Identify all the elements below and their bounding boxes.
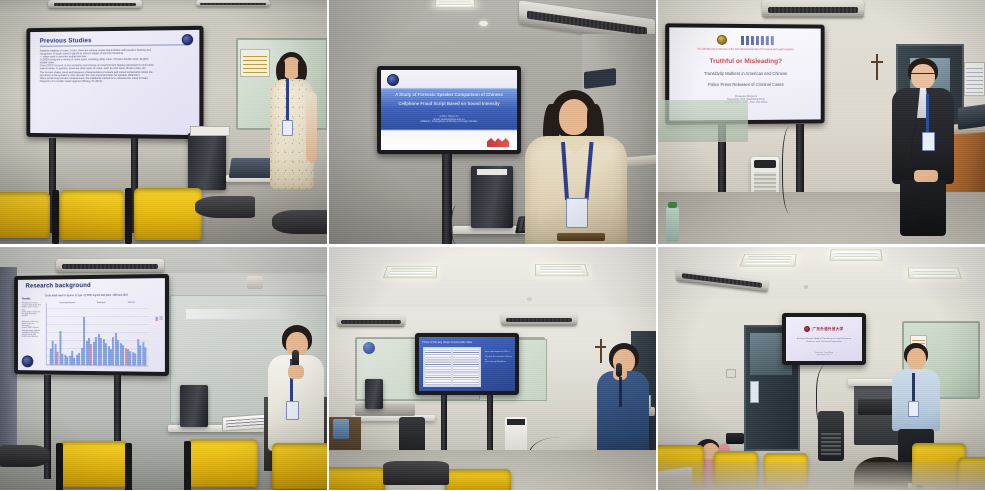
table-cell	[424, 348, 452, 361]
table-cell	[452, 348, 480, 361]
ceiling	[329, 247, 656, 307]
slide-side-note: First, split corpus by CRF++ Second, the…	[485, 351, 512, 363]
badge	[282, 120, 293, 136]
desk-arm-rest	[195, 196, 255, 218]
floor	[658, 462, 985, 490]
slide-side-text: The injury is a main cause of loss of li…	[22, 302, 41, 338]
slide-previous-studies: Previous Studies Auditory masking of noi…	[30, 30, 199, 135]
badge	[908, 401, 919, 417]
slide-title-block: A Study of Forensic Speaker Comparison o…	[387, 92, 511, 106]
glasses-icon	[911, 73, 935, 78]
ceiling-light	[383, 266, 438, 278]
slide-side-label: Trends	[22, 296, 31, 300]
side-note-line: First, split corpus by CRF++	[485, 351, 512, 353]
ac-unit	[48, 0, 142, 9]
hand	[288, 365, 304, 379]
slide-subtitle-line-2: Police Press Releases of Criminal Cases	[674, 83, 815, 88]
lanyard	[286, 79, 289, 121]
slide-sub-line: Affiliation: Guangdong University of For…	[387, 121, 511, 124]
wall-poster-icon	[363, 342, 375, 354]
chair	[134, 188, 202, 240]
recycling-bin-icon	[333, 419, 349, 439]
slide-title-line-2: Evidence from Courtroom Interaction	[788, 341, 860, 344]
ceiling-spot-icon	[527, 297, 532, 301]
table-cell	[424, 361, 452, 374]
pc-label	[190, 126, 230, 136]
chair-back	[60, 441, 128, 487]
ceiling-light-3	[908, 268, 962, 279]
university-seal-icon	[804, 326, 810, 332]
chart-group-label: Road injury	[97, 302, 106, 304]
slide-logo-text: 广东外语外贸大学	[812, 327, 843, 332]
chair	[0, 192, 50, 238]
desk-arm-rest	[0, 445, 50, 467]
slide-title-line-2: Cellphone Fraud Script Based on Sound In…	[387, 101, 511, 106]
air-purifier-panel	[754, 160, 776, 168]
chart-bar	[144, 347, 146, 366]
photo-tile-bottom-left[interactable]: Research background Trends The injury is…	[0, 247, 327, 490]
glass-reflection	[186, 309, 306, 319]
photo-tile-top-center[interactable]: A Study of Forensic Speaker Comparison o…	[329, 0, 656, 244]
ceiling-light-2	[829, 250, 883, 261]
water-bottle	[666, 206, 679, 242]
pc-tower	[365, 379, 383, 409]
ceiling-speaker-icon	[247, 276, 263, 289]
face	[907, 348, 926, 370]
slide-title: Truthful or Misleading?	[674, 57, 815, 65]
chart-group-labels: Unintentional injuries Road injury Self-…	[49, 302, 147, 305]
slide-title-line-1: A Study of Forensic Speaker Comparison o…	[387, 92, 511, 97]
chair-leg	[52, 190, 59, 244]
crucifix-icon	[871, 54, 883, 80]
chair	[329, 467, 385, 490]
slide-logo-row: 广东外语外贸大学	[788, 326, 860, 332]
iafll-logo-icon	[717, 35, 727, 45]
display-screen[interactable]: A Study of Forensic Speaker Comparison o…	[377, 66, 521, 154]
chart-bars	[50, 310, 147, 366]
slide-automatic-data: Three of the key steps of automatic data…	[419, 337, 515, 391]
legend-entry: 2019	[156, 319, 163, 321]
ac-unit	[56, 259, 164, 273]
chair	[272, 443, 327, 489]
chair-back	[445, 469, 511, 490]
legend-label: 1990	[159, 317, 163, 318]
table-cell	[452, 373, 480, 386]
chair	[60, 441, 128, 487]
display-screen[interactable]: 广东外语外贸大学 A Corpus-Based Study of Transit…	[782, 313, 866, 365]
chair-leg	[125, 188, 132, 244]
chair-back	[188, 439, 258, 487]
ac-unit-right	[501, 313, 577, 326]
slide-title: Three of the key steps of automatic data	[422, 340, 512, 344]
notice-board-grid	[966, 65, 983, 93]
chair-leg-2	[125, 443, 132, 490]
air-purifier-vents	[821, 433, 841, 455]
slide-logo-row	[674, 35, 815, 46]
photo-tile-top-right[interactable]: The 16th Biennial Conference of the Inte…	[658, 0, 985, 244]
chair-back	[272, 443, 327, 489]
display-screen[interactable]: Three of the key steps of automatic data…	[415, 333, 519, 395]
av-equipment	[355, 403, 415, 416]
university-seal-icon	[182, 34, 193, 45]
lanyard	[619, 377, 622, 407]
slide-header-line: The 16th Biennial Conference of the Inte…	[674, 49, 815, 52]
side-text-line: the global disease burden.	[22, 313, 41, 317]
slide-body: Auditory masking of noise. In fact, ther…	[40, 49, 188, 83]
chart-plot-area: Unintentional injuries Road injury Self-…	[46, 303, 149, 367]
wall-socket-icon	[726, 369, 736, 378]
laptop	[958, 104, 985, 130]
chair-back	[60, 190, 124, 240]
badge	[286, 401, 299, 420]
university-logo-icon	[741, 35, 775, 44]
chair	[60, 190, 124, 240]
cable	[451, 205, 467, 244]
table-cell	[452, 361, 480, 374]
presenter	[519, 90, 639, 244]
ceiling-spot-icon	[479, 21, 488, 26]
ac-unit-left	[337, 315, 405, 327]
microphone-cable	[910, 122, 934, 232]
phone-icon	[726, 433, 744, 444]
display-cable	[782, 126, 802, 214]
belt	[557, 233, 605, 241]
footer-logo-icon	[487, 138, 509, 147]
slide-table	[423, 347, 481, 387]
badge	[566, 198, 588, 228]
chair-back	[134, 188, 202, 240]
arm	[306, 92, 317, 162]
chair	[445, 469, 511, 490]
lanyard	[912, 373, 915, 403]
ceiling-light	[434, 0, 475, 8]
presenter	[262, 52, 320, 212]
slide-sub-line: Supervisor: Prof. Li	[788, 354, 860, 356]
ac-unit	[762, 0, 864, 18]
university-seal-icon	[22, 355, 34, 367]
photo-tile-bottom-right[interactable]: 广东外语外贸大学 A Corpus-Based Study of Transit…	[658, 247, 985, 490]
display-screen[interactable]: Previous Studies Auditory masking of noi…	[26, 26, 203, 140]
side-text-line: health care delivery.	[22, 336, 41, 338]
side-note-line: each item by Word2vec	[485, 361, 512, 363]
university-seal-icon	[387, 74, 399, 86]
slide-author-block: Author: Name Xu Email: student@xisu.edu.…	[387, 116, 511, 125]
legend-swatch-2019	[156, 319, 158, 321]
slide-title-rule	[40, 45, 188, 47]
ceiling-light-2	[535, 264, 589, 276]
shirt	[892, 369, 940, 431]
slide-forensic-title: A Study of Forensic Speaker Comparison o…	[381, 70, 517, 150]
slide-body-line: frequency of a certain vowel segment (Zh…	[40, 80, 188, 83]
chart-caption: Crude death rates for injuries, by type,…	[45, 294, 161, 297]
chair-leg	[184, 441, 191, 490]
chair-back	[329, 467, 385, 490]
ac-unit-right	[196, 0, 270, 7]
chair-leg	[56, 443, 63, 490]
legend-label: 2019	[159, 319, 163, 320]
ceiling-light	[739, 254, 796, 267]
air-purifier-panel	[507, 419, 525, 425]
desk-arm-rest	[383, 461, 449, 485]
photo-tile-bottom-center[interactable]: Three of the key steps of automatic data…	[329, 247, 656, 490]
photo-grid: Previous Studies Auditory masking of noi…	[0, 0, 985, 491]
pc-tower	[471, 166, 513, 228]
chair-back	[0, 192, 50, 238]
pc-tower	[180, 385, 208, 427]
microphone-icon	[616, 363, 622, 377]
slide-research-background: Research background Trends The injury is…	[18, 278, 165, 372]
greenboard-edge	[658, 100, 748, 142]
door-sign-icon	[750, 381, 759, 403]
ceiling-spot-icon	[804, 285, 808, 289]
slide-lavender-title: 广东外语外贸大学 A Corpus-Based Study of Transit…	[786, 317, 862, 361]
chart-group-label: Self-harm	[128, 302, 135, 304]
chart-legend: 1990 2019	[156, 317, 163, 321]
water-bottle-cap	[668, 202, 677, 208]
chair	[188, 439, 258, 487]
face	[559, 99, 589, 135]
photo-tile-top-left[interactable]: Previous Studies Auditory masking of noi…	[0, 0, 327, 244]
pc-tower	[188, 133, 226, 190]
pc-label	[477, 169, 507, 175]
slide-title: Research background	[26, 282, 161, 289]
slide-credits: Presenter: Yuan Wang Supervisor: Prof. L…	[788, 352, 860, 356]
slide-subtitle-line-1: Transitivity Markers in American and Chi…	[674, 72, 815, 77]
desk-arm-rest-2	[272, 210, 327, 234]
display-screen[interactable]: Research background Trends The injury is…	[14, 274, 169, 376]
chart-group-label: Unintentional injuries	[60, 302, 75, 304]
table-cell	[424, 373, 452, 386]
